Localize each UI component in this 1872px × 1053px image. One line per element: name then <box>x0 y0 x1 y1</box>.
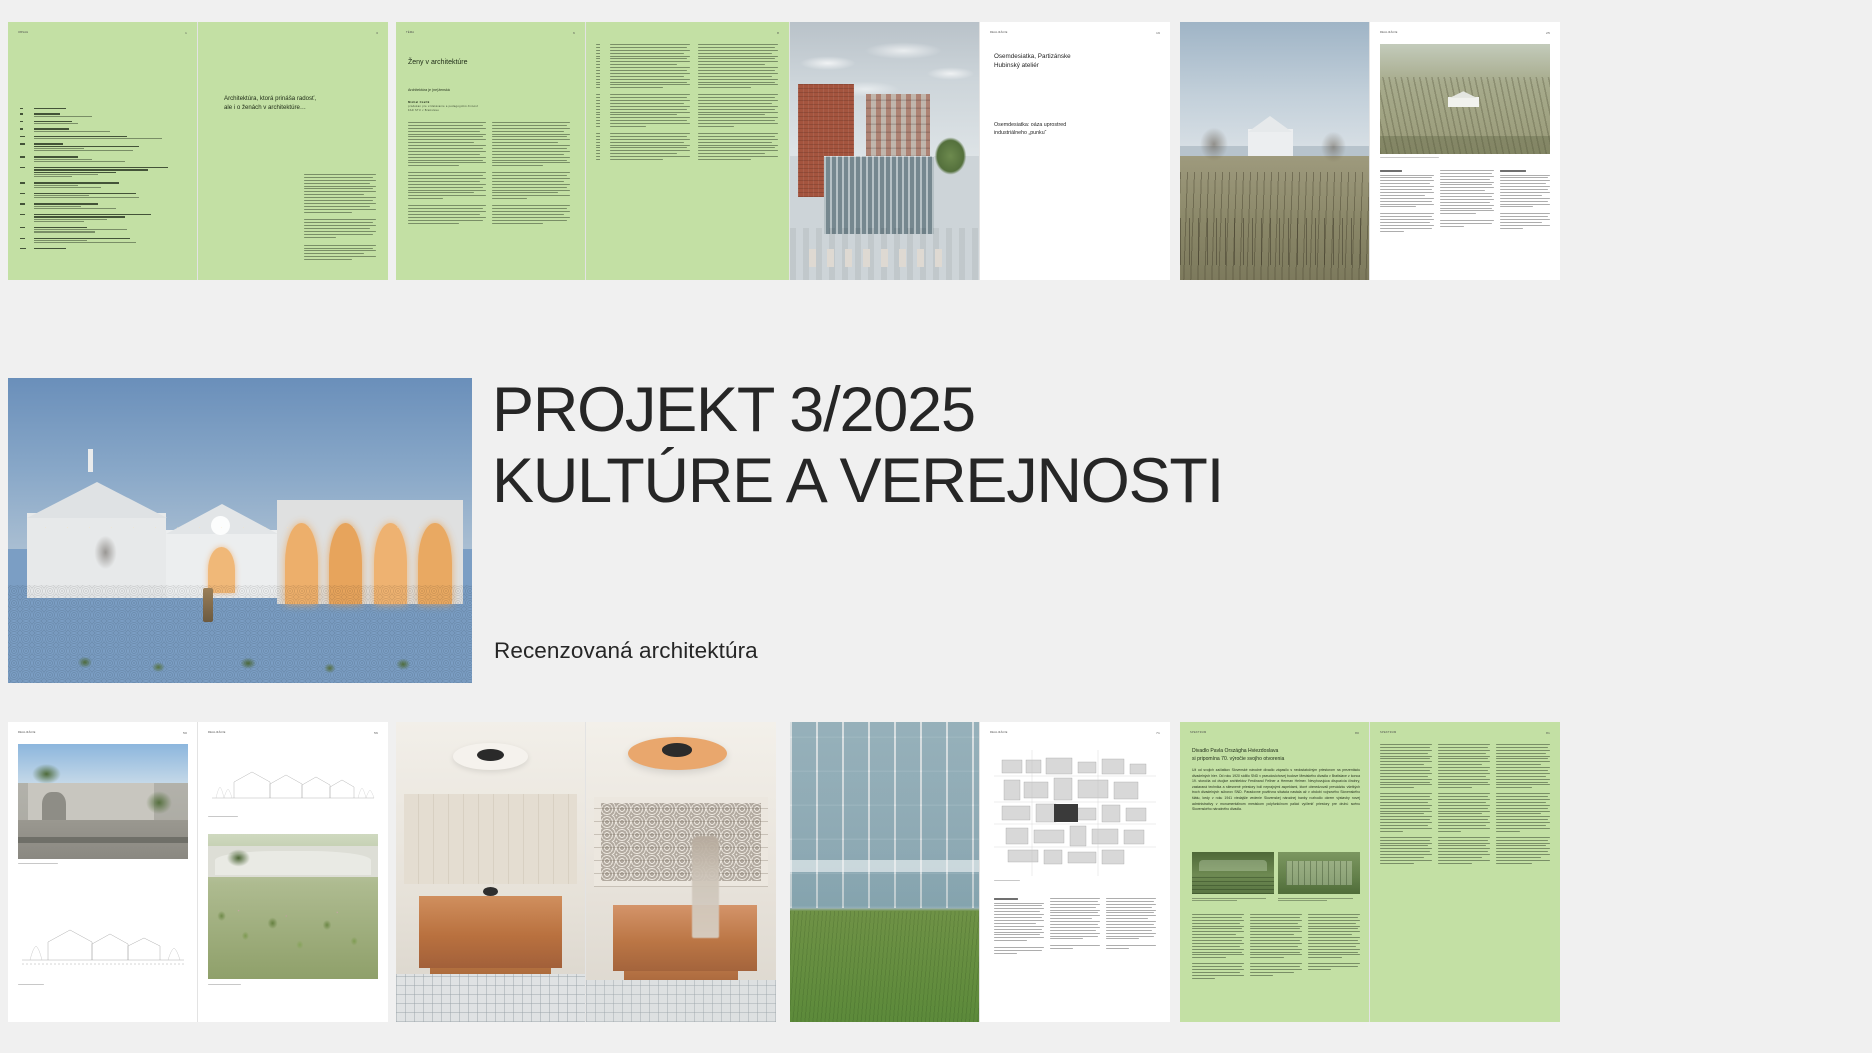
spread-sklenena-fasada[interactable]: REALIZÁCIE 71 <box>790 722 1170 1022</box>
photo-zahrada-kvety <box>208 834 378 979</box>
caption-situacia <box>994 880 1034 883</box>
runhead-tema: 8 <box>610 31 779 35</box>
body-text-vinarstvo-2 <box>1440 170 1494 229</box>
runhead-spektrum-right: SPEKTRUM 81 <box>1380 731 1550 735</box>
body-text-col-1 <box>408 122 486 225</box>
pull-quote: Architektúra, ktorá prináša radosť, ale … <box>224 94 374 112</box>
body-text-col-2 <box>492 122 570 225</box>
trees <box>926 99 975 213</box>
divadlo-right-col-2 <box>1438 744 1490 866</box>
runhead-label: OBSAH <box>18 31 28 35</box>
runhead-spektrum: SPEKTRUM 80 <box>1190 731 1359 735</box>
tiled-floor-2 <box>586 980 776 1022</box>
caption-vinohrad <box>1380 157 1450 160</box>
divadlo-lead: Už od svojich začiatkov Slovenské národn… <box>1192 768 1360 813</box>
copper-counter <box>613 905 757 971</box>
page-zeny-left: TÉMA 6 Ženy v architektúre Architektúra … <box>396 22 585 280</box>
rez-svg <box>18 898 188 978</box>
sapling-tree <box>73 494 138 640</box>
runhead-label: REALIZÁCIE <box>990 731 1008 735</box>
page-osemdesiatka-photo <box>790 22 979 280</box>
spread-vinarstvo[interactable]: REALIZÁCIE 25 <box>1180 22 1560 280</box>
runhead-realizacie: REALIZÁCIE 25 <box>1380 31 1550 35</box>
photo-medena-kuchyna <box>396 722 585 1022</box>
folio: 6 <box>573 31 575 35</box>
hero-image <box>8 378 472 683</box>
editorial-text <box>304 174 376 262</box>
folio: 25 <box>1546 31 1550 35</box>
body-text-col-b <box>698 44 778 162</box>
runhead-label: SPEKTRUM <box>1190 731 1206 735</box>
article-title-zeny: Ženy v architektúre <box>408 58 568 67</box>
hodnotenie-col-3 <box>1106 898 1156 951</box>
spread-obsah[interactable]: OBSAH 1 <box>8 22 388 280</box>
bare-trees-right <box>1309 89 1358 218</box>
body-text-col-a <box>610 44 690 162</box>
glass-pavilion <box>824 156 934 233</box>
page-betonovy-dom-left: REALIZÁCIE 50 <box>8 722 197 1022</box>
folio: 19 <box>1156 31 1160 35</box>
runhead-realizacie: REALIZÁCIE 50 <box>18 731 187 735</box>
photo-captions <box>1192 898 1360 901</box>
sculpture <box>203 588 213 622</box>
hodnotenie-col-2 <box>1050 898 1100 951</box>
realizacia-title: Osemdesiatka, Partizánske Hubinský ateli… <box>994 52 1154 70</box>
runhead-tema: TÉMA 6 <box>406 31 575 35</box>
folio: 71 <box>1156 731 1160 735</box>
spread-betonovy-dom[interactable]: REALIZÁCIE 50 <box>8 722 388 1022</box>
page-ohrozeny-left: 8 <box>600 22 789 280</box>
divadlo-right-col-1 <box>1380 744 1432 866</box>
page-situacia: REALIZÁCIE 71 <box>980 722 1170 1022</box>
article-subtitle-zeny: Architektúra je (ne)ženská <box>408 88 558 93</box>
runhead-realizacie-situacia: REALIZÁCIE 71 <box>990 731 1160 735</box>
spread-divadlo-snd[interactable]: SPEKTRUM 80 Divadlo Pavla Országha Hviez… <box>1180 722 1560 1022</box>
bare-trees <box>1188 84 1241 218</box>
runhead-realizacie-right: REALIZÁCIE 56 <box>208 731 378 735</box>
drawing-situacia <box>994 750 1156 876</box>
page-kaviaren <box>586 722 776 1022</box>
fence-posts <box>1180 218 1369 264</box>
page-betonovy-dom-right: REALIZÁCIE 56 <box>198 722 388 1022</box>
caption-betonovy-dom <box>18 863 78 866</box>
body-text-vinarstvo-3 <box>1500 170 1550 231</box>
caption-fasada <box>208 816 254 819</box>
magazine-showcase-canvas: OBSAH 1 <box>0 0 1872 1053</box>
divadlo-right-col-3 <box>1496 744 1550 866</box>
runhead-label: REALIZÁCIE <box>18 731 36 735</box>
folio: 8 <box>777 31 779 35</box>
hero-subtitle: Recenzovaná architektúra <box>494 638 758 664</box>
page-kuchyna <box>396 722 585 1022</box>
tiled-floor <box>396 974 585 1022</box>
glass-curtain-wall <box>790 722 979 908</box>
page-vinarstvo-photo <box>1180 22 1369 280</box>
folio: 1 <box>185 31 187 35</box>
photo-partizanske <box>790 22 979 280</box>
photo-vinohrad-aerial <box>1380 44 1550 154</box>
caption-rez <box>18 984 58 987</box>
spread-osemdesiatka[interactable]: REALIZÁCIE 19 Osemdesiatka, Partizánske … <box>790 22 1170 280</box>
page-vinarstvo-text: REALIZÁCIE 25 <box>1370 22 1560 280</box>
toc-list <box>20 108 180 249</box>
runhead-label-right: SPEKTRUM <box>1380 731 1396 735</box>
body-text-vinarstvo-1 <box>1380 170 1434 234</box>
person-figure <box>692 836 719 938</box>
concrete-benches <box>809 249 953 267</box>
photo-vinohrad-zima <box>1180 22 1369 280</box>
folio-right: 3 <box>376 31 378 35</box>
divadlo-title: Divadlo Pavla Országha Hviezdoslava si p… <box>1192 748 1360 763</box>
hero-title: PROJEKT 3/2025 KULTÚRE A VEREJNOSTI <box>492 375 1392 516</box>
hodnotenie-col-1 <box>994 898 1044 956</box>
page-obsah-right: 3 Architektúra, ktorá prináša radosť, al… <box>198 22 388 280</box>
drawing-fasada <box>208 754 378 812</box>
cabinets <box>404 794 578 884</box>
fasada-svg <box>208 754 378 812</box>
runhead-realizacie: REALIZÁCIE 19 <box>990 31 1160 35</box>
realizacia-subtitle: Osemdesiatka: oáza uprostred industriáln… <box>994 122 1154 137</box>
lawn <box>790 911 979 1022</box>
runhead-label-right: REALIZÁCIE <box>208 731 226 735</box>
folio: 80 <box>1355 731 1359 735</box>
copper-island <box>419 896 563 968</box>
ceramics-row <box>601 803 761 881</box>
article-author-role-zeny: prodekan pre vzdelávanie a pedagogickú č… <box>408 105 498 113</box>
runhead-label: REALIZÁCIE <box>990 31 1008 35</box>
situacia-svg <box>994 750 1156 876</box>
folio-right: 81 <box>1546 731 1550 735</box>
page-divadlo-right: SPEKTRUM 81 <box>1370 722 1560 1022</box>
spread-medena-kuchyna[interactable] <box>396 722 776 1022</box>
folio: 50 <box>183 731 187 735</box>
photo-sklenena-fasada <box>790 722 979 1022</box>
page-sklenena-fasada <box>790 722 979 1022</box>
caption-zahrada <box>208 984 258 987</box>
folio-right: 56 <box>374 731 378 735</box>
runhead-label: REALIZÁCIE <box>1380 31 1398 35</box>
divadlo-body-col-3 <box>1308 914 1360 972</box>
photo-betonovy-dom <box>18 744 188 859</box>
page-osemdesiatka-title: REALIZÁCIE 19 Osemdesiatka, Partizánske … <box>980 22 1170 280</box>
page-obsah-left: OBSAH 1 <box>8 22 197 280</box>
runhead-obsah: OBSAH 1 <box>18 31 187 35</box>
runhead-label: TÉMA <box>406 31 414 35</box>
photo-fasada-divadla <box>1278 852 1360 894</box>
photo-medeny-pult <box>586 722 776 1022</box>
runhead-obsah-right: 3 <box>208 31 378 35</box>
page-divadlo-left: SPEKTRUM 80 Divadlo Pavla Országha Hviez… <box>1180 722 1369 1022</box>
drawing-rez-dom <box>18 898 188 978</box>
divadlo-body-col-2 <box>1250 914 1302 978</box>
bowl-on-island <box>483 887 498 896</box>
article-author-zeny: Michal Czafík <box>408 100 430 104</box>
photo-hladisko <box>1192 852 1274 894</box>
divadlo-body-col-1 <box>1192 914 1244 981</box>
